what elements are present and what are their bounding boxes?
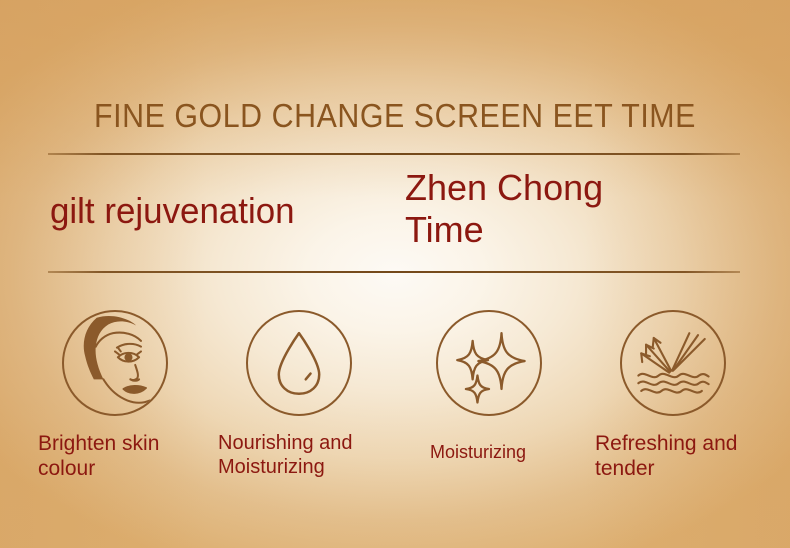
feature-item-brighten-skin: Brighten skin colour <box>62 310 168 416</box>
feature-row: Brighten skin colour Nourishing and Mois… <box>0 310 790 510</box>
promo-banner: FINE GOLD CHANGE SCREEN EET TIME gilt re… <box>0 0 790 548</box>
headline-right: Zhen Chong Time <box>405 167 685 252</box>
headline-row: gilt rejuvenation Zhen Chong Time <box>0 162 790 270</box>
feature-item-refreshing: Refreshing and tender <box>620 310 726 416</box>
sun-rays-waves-icon <box>620 310 726 416</box>
main-title: FINE GOLD CHANGE SCREEN EET TIME <box>32 97 759 135</box>
water-drop-icon <box>246 310 352 416</box>
feature-caption: Refreshing and tender <box>595 432 790 482</box>
feature-item-nourishing: Nourishing and Moisturizing <box>246 310 352 416</box>
feature-caption: Nourishing and Moisturizing <box>218 432 448 479</box>
divider-top <box>48 153 740 155</box>
woman-face-icon <box>62 310 168 416</box>
divider-bottom <box>48 271 740 273</box>
banner-content: FINE GOLD CHANGE SCREEN EET TIME gilt re… <box>0 0 790 548</box>
sparkles-icon <box>436 310 542 416</box>
headline-right-line1: Zhen Chong <box>405 167 603 208</box>
headline-right-line2: Time <box>405 209 685 251</box>
feature-item-moisturizing: Moisturizing <box>436 310 542 416</box>
headline-left: gilt rejuvenation <box>50 190 295 232</box>
